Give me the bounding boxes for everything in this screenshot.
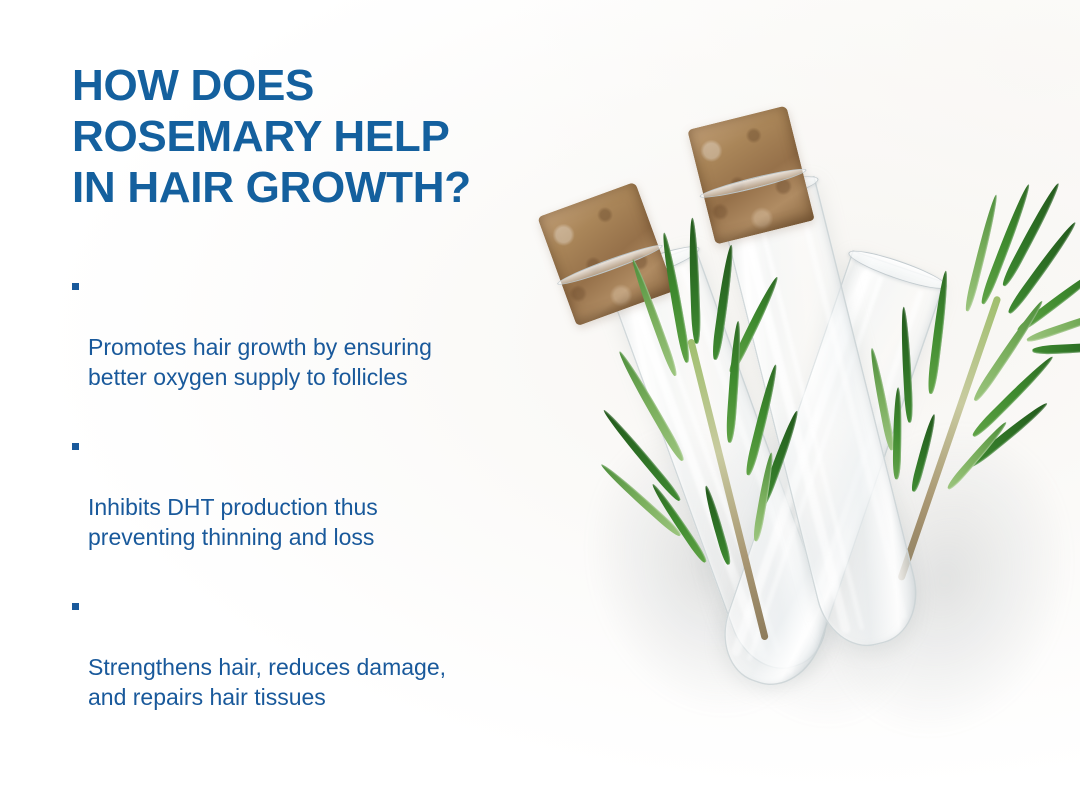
list-item: Promotes hair growth by ensuring better … <box>72 272 542 392</box>
rosemary-needle <box>688 218 701 344</box>
rosemary-stem <box>687 338 769 640</box>
rosemary-needle <box>752 452 776 542</box>
rosemary-needle <box>1032 341 1080 355</box>
rosemary-needle <box>900 307 914 423</box>
square-bullet-icon <box>72 283 79 290</box>
benefits-list: Promotes hair growth by ensuring better … <box>72 272 542 712</box>
list-item: Inhibits DHT production thus preventing … <box>72 432 542 552</box>
rosemary-needle <box>893 387 903 479</box>
rosemary-stem <box>897 295 1001 581</box>
text-column: HOW DOES ROSEMARY HELP IN HAIR GROWTH? P… <box>72 60 552 213</box>
rosemary-needle <box>711 244 736 360</box>
tube-neck-ring-middle <box>698 165 807 202</box>
list-item-text: Inhibits DHT production thus preventing … <box>88 494 378 550</box>
square-bullet-icon <box>72 603 79 610</box>
list-item: Strengthens hair, reduces damage, and re… <box>72 592 542 712</box>
square-bullet-icon <box>72 443 79 450</box>
rosemary-needle <box>725 321 742 443</box>
list-item-text: Promotes hair growth by ensuring better … <box>88 334 432 390</box>
infographic-canvas: HOW DOES ROSEMARY HELP IN HAIR GROWTH? P… <box>0 0 1080 810</box>
rosemary-needle <box>926 270 950 394</box>
rosemary-needle <box>650 482 709 564</box>
rosemary-test-tube-photo <box>520 0 1080 810</box>
page-title: HOW DOES ROSEMARY HELP IN HAIR GROWTH? <box>72 60 552 213</box>
list-item-text: Strengthens hair, reduces damage, and re… <box>88 654 446 710</box>
